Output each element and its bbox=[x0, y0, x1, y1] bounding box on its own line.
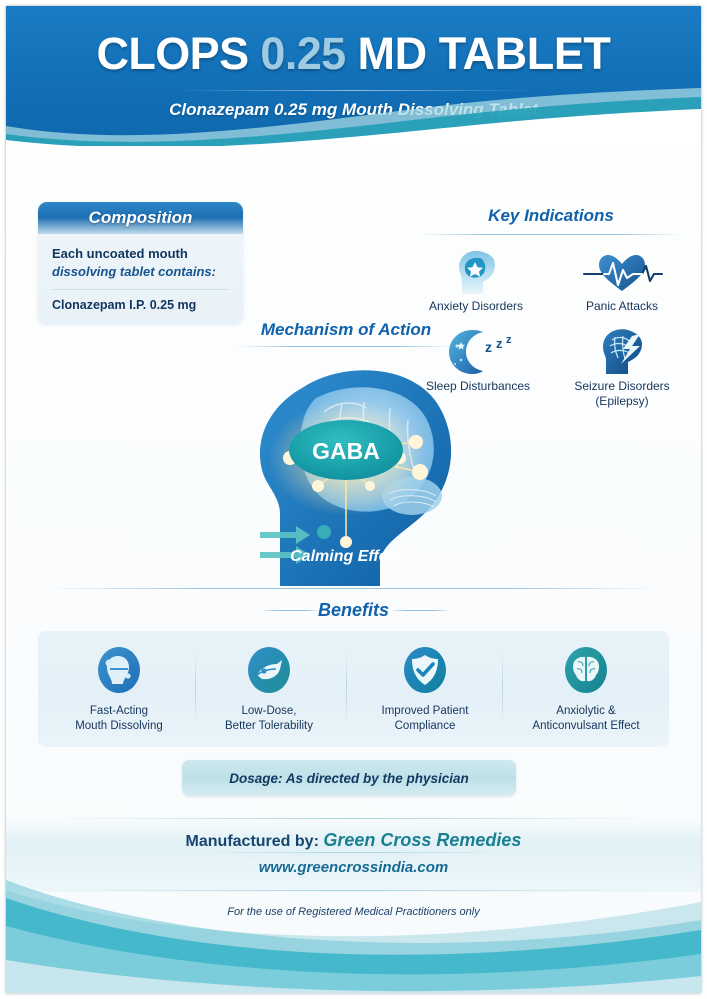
composition-line-2: dissolving tablet contains: bbox=[52, 263, 229, 281]
benefit-compliance-line2: Compliance bbox=[350, 719, 500, 734]
benefit-fast-acting-line1: Fast-Acting bbox=[44, 704, 194, 719]
benefit-low-dose-line1: Low-Dose, bbox=[194, 704, 344, 719]
benefit-divider-2 bbox=[346, 654, 347, 726]
gaba-label: GABA bbox=[312, 438, 380, 464]
mechanism-heading: Mechanism of Action bbox=[238, 320, 454, 340]
low-dose-icon bbox=[194, 642, 344, 698]
header-wave-decoration bbox=[6, 86, 701, 146]
brain-halves-icon bbox=[511, 642, 661, 698]
regulatory-disclaimer: For the use of Registered Medical Practi… bbox=[6, 906, 701, 918]
product-title: CLOPS 0.25 MD TABLET bbox=[6, 28, 701, 80]
manufactured-by-label: Manufactured by: bbox=[186, 833, 319, 850]
page-sheet: CLOPS 0.25 MD TABLET Clonazepam 0.25 mg … bbox=[6, 6, 701, 993]
benefit-anxiolytic-line1: Anxiolytic & bbox=[511, 704, 661, 719]
benefit-compliance-line1: Improved Patient bbox=[350, 704, 500, 719]
strength-value: 0.25 bbox=[260, 28, 345, 79]
benefit-low-dose: Low-Dose, Better Tolerability bbox=[194, 642, 344, 734]
svg-text:z: z bbox=[485, 339, 492, 355]
benefit-anxiolytic-line2: Anticonvulsant Effect bbox=[511, 719, 661, 734]
manufacturer-rule-mid bbox=[196, 852, 511, 853]
indications-heading: Key Indications bbox=[406, 206, 696, 226]
benefits-top-rule bbox=[44, 588, 663, 589]
indication-anxiety: Anxiety Disorders bbox=[401, 244, 551, 314]
brand-name: CLOPS bbox=[96, 28, 248, 79]
benefit-fast-acting-line2: Mouth Dissolving bbox=[44, 719, 194, 734]
head-seizure-icon bbox=[547, 324, 697, 376]
benefits-heading: Benefits bbox=[6, 600, 701, 621]
indication-seizure-label: Seizure Disorders bbox=[547, 379, 697, 394]
composition-heading: Composition bbox=[38, 202, 243, 234]
dosage-banner: Dosage: As directed by the physician bbox=[182, 760, 516, 796]
dissolving-tablet-icon bbox=[44, 642, 194, 698]
composition-ingredient: Clonazepam I.P. 0.25 mg bbox=[52, 298, 229, 312]
indication-panic-label: Panic Attacks bbox=[547, 299, 697, 314]
composition-line-1: Each uncoated mouth bbox=[52, 245, 229, 263]
indications-heading-rule bbox=[418, 234, 684, 235]
benefit-compliance: Improved Patient Compliance bbox=[350, 642, 500, 734]
benefit-fast-acting: Fast-Acting Mouth Dissolving bbox=[44, 642, 194, 734]
manufacturer-rule-top bbox=[44, 818, 663, 819]
company-name: Green Cross Remedies bbox=[323, 830, 521, 850]
indication-seizure-sublabel: (Epilepsy) bbox=[547, 394, 697, 409]
benefit-low-dose-line2: Better Tolerability bbox=[194, 719, 344, 734]
composition-card: Composition Each uncoated mouth dissolvi… bbox=[38, 202, 243, 324]
heart-ecg-icon bbox=[547, 244, 697, 296]
dosage-form: MD TABLET bbox=[358, 28, 611, 79]
head-brain-icon bbox=[401, 244, 551, 296]
benefit-divider-3 bbox=[502, 654, 503, 726]
svg-text:z: z bbox=[506, 334, 512, 346]
benefits-rule-right bbox=[390, 610, 450, 611]
composition-separator bbox=[52, 289, 229, 290]
indication-seizure: Seizure Disorders (Epilepsy) bbox=[547, 324, 697, 408]
footer-wave-decoration bbox=[6, 868, 701, 993]
indication-panic: Panic Attacks bbox=[547, 244, 697, 314]
composition-body: Each uncoated mouth dissolving tablet co… bbox=[38, 234, 243, 312]
header-banner: CLOPS 0.25 MD TABLET Clonazepam 0.25 mg … bbox=[6, 6, 701, 146]
manufacturer-line: Manufactured by: Green Cross Remedies bbox=[6, 830, 701, 851]
mechanism-illustration: GABA Calming Effect bbox=[184, 346, 484, 586]
svg-text:z: z bbox=[496, 336, 503, 351]
shield-check-icon bbox=[350, 642, 500, 698]
indication-anxiety-label: Anxiety Disorders bbox=[401, 299, 551, 314]
benefit-anxiolytic: Anxiolytic & Anticonvulsant Effect bbox=[511, 642, 661, 734]
calming-effect-label: Calming Effect bbox=[290, 548, 402, 565]
infographic-page: CLOPS 0.25 MD TABLET Clonazepam 0.25 mg … bbox=[0, 0, 707, 999]
benefits-rule-left bbox=[261, 610, 321, 611]
